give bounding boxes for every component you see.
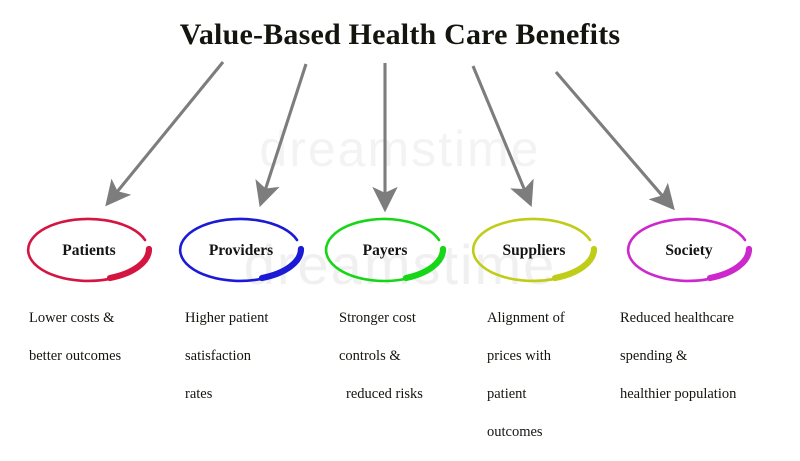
arrow-to-patients (108, 62, 223, 203)
description-line: better outcomes (29, 347, 179, 366)
description-line: healthier population (620, 385, 795, 404)
description-patients: Lower costs & better outcomes (29, 290, 179, 385)
description-suppliers: Alignment of prices with patient outcome… (487, 290, 627, 461)
description-society: Reduced healthcare spending & healthier … (620, 290, 795, 423)
arrow-to-suppliers (473, 66, 530, 203)
description-line: Alignment of (487, 309, 627, 328)
description-line: satisfaction (185, 347, 335, 366)
description-line: reduced risks (339, 385, 494, 404)
description-line: controls & (339, 347, 494, 366)
node-label-providers: Providers (181, 242, 301, 260)
arrow-to-providers (261, 64, 306, 203)
arrow-to-society (556, 72, 672, 207)
description-line: spending & (620, 347, 795, 366)
description-line: rates (185, 385, 335, 404)
node-label-society: Society (629, 242, 749, 260)
description-payers: Stronger cost controls & reduced risks (339, 290, 494, 423)
node-label-payers: Payers (327, 242, 443, 260)
description-line: prices with (487, 347, 627, 366)
node-label-patients: Patients (29, 242, 149, 260)
description-line: Stronger cost (339, 309, 494, 328)
description-line: Lower costs & (29, 309, 179, 328)
diagram-title: Value-Based Health Care Benefits (0, 18, 800, 52)
description-line: Reduced healthcare (620, 309, 795, 328)
description-providers: Higher patient satisfaction rates (185, 290, 335, 423)
node-label-suppliers: Suppliers (474, 242, 594, 260)
description-line: Higher patient (185, 309, 335, 328)
description-line: outcomes (487, 423, 627, 442)
description-line: patient (487, 385, 627, 404)
diagram-canvas: dreamstime dreamstime (0, 0, 800, 405)
